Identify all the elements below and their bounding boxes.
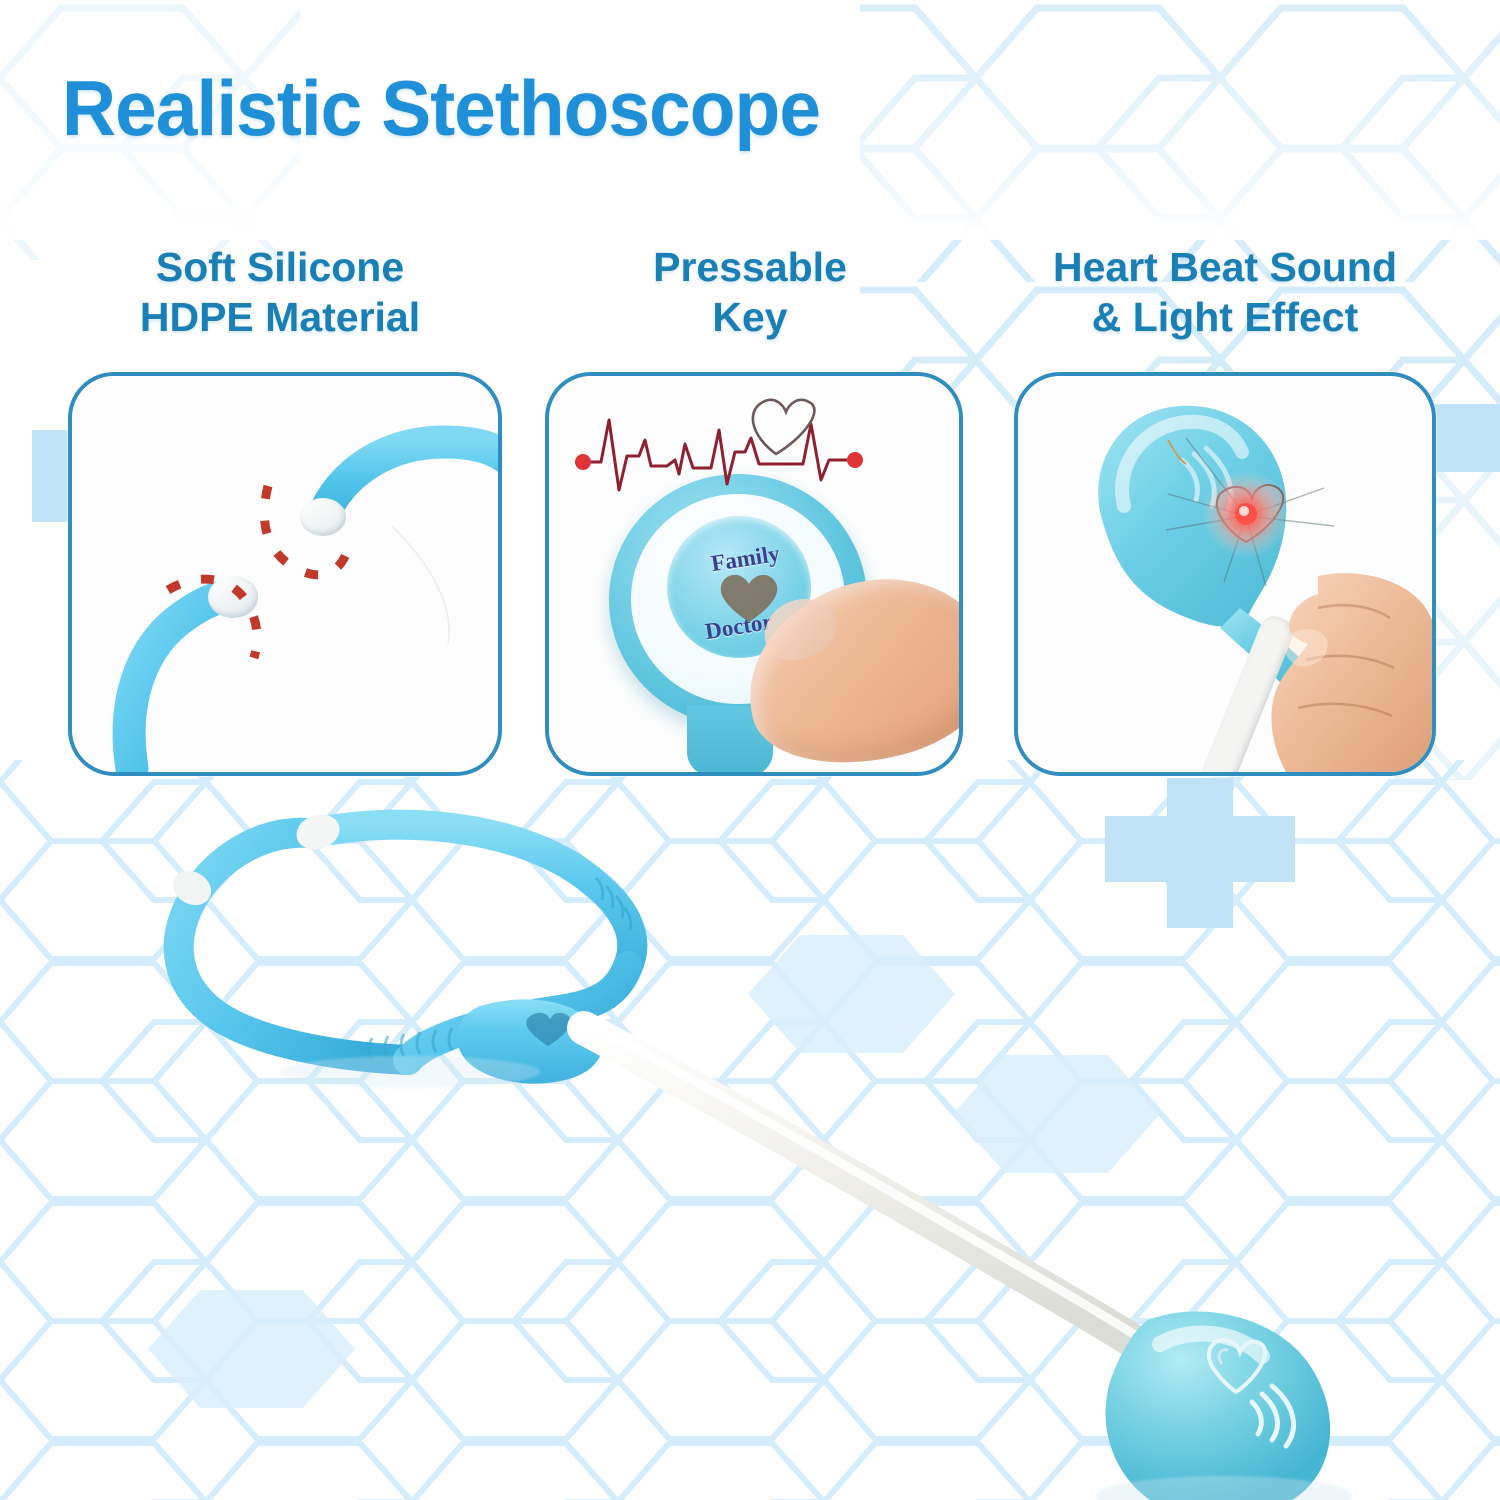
feature-photo-soft-silicone [68,372,502,776]
feature-caption-heart-beat-sound-light: Heart Beat Sound & Light Effect [1000,242,1450,342]
feature-caption-pressable-key: Pressable Key [530,242,970,342]
stethoscope-illustration [0,760,1500,1500]
caption-line-1: Soft Silicone [156,244,404,290]
photo-highlight [72,376,498,772]
white-tubing [584,1028,1178,1372]
feature-photo-heart-beat-sound-light [1014,372,1436,776]
caption-line-2: HDPE Material [60,292,500,342]
caption-line-1: Pressable [653,244,847,290]
feature-photo-pressable-key: Family Doctor [545,372,963,776]
caption-line-1: Heart Beat Sound [1053,244,1397,290]
caption-line-2: & Light Effect [1000,292,1450,342]
hero-product-photo [0,760,1500,1500]
holding-hand [1018,376,1432,772]
caption-line-2: Key [530,292,970,342]
ecg-waveform-icon [571,394,871,504]
feature-caption-soft-silicone: Soft Silicone HDPE Material [60,242,500,342]
infographic-canvas: Realistic Stethoscope Soft Silicone HDPE… [0,0,1500,1500]
page-title: Realistic Stethoscope [62,66,820,150]
